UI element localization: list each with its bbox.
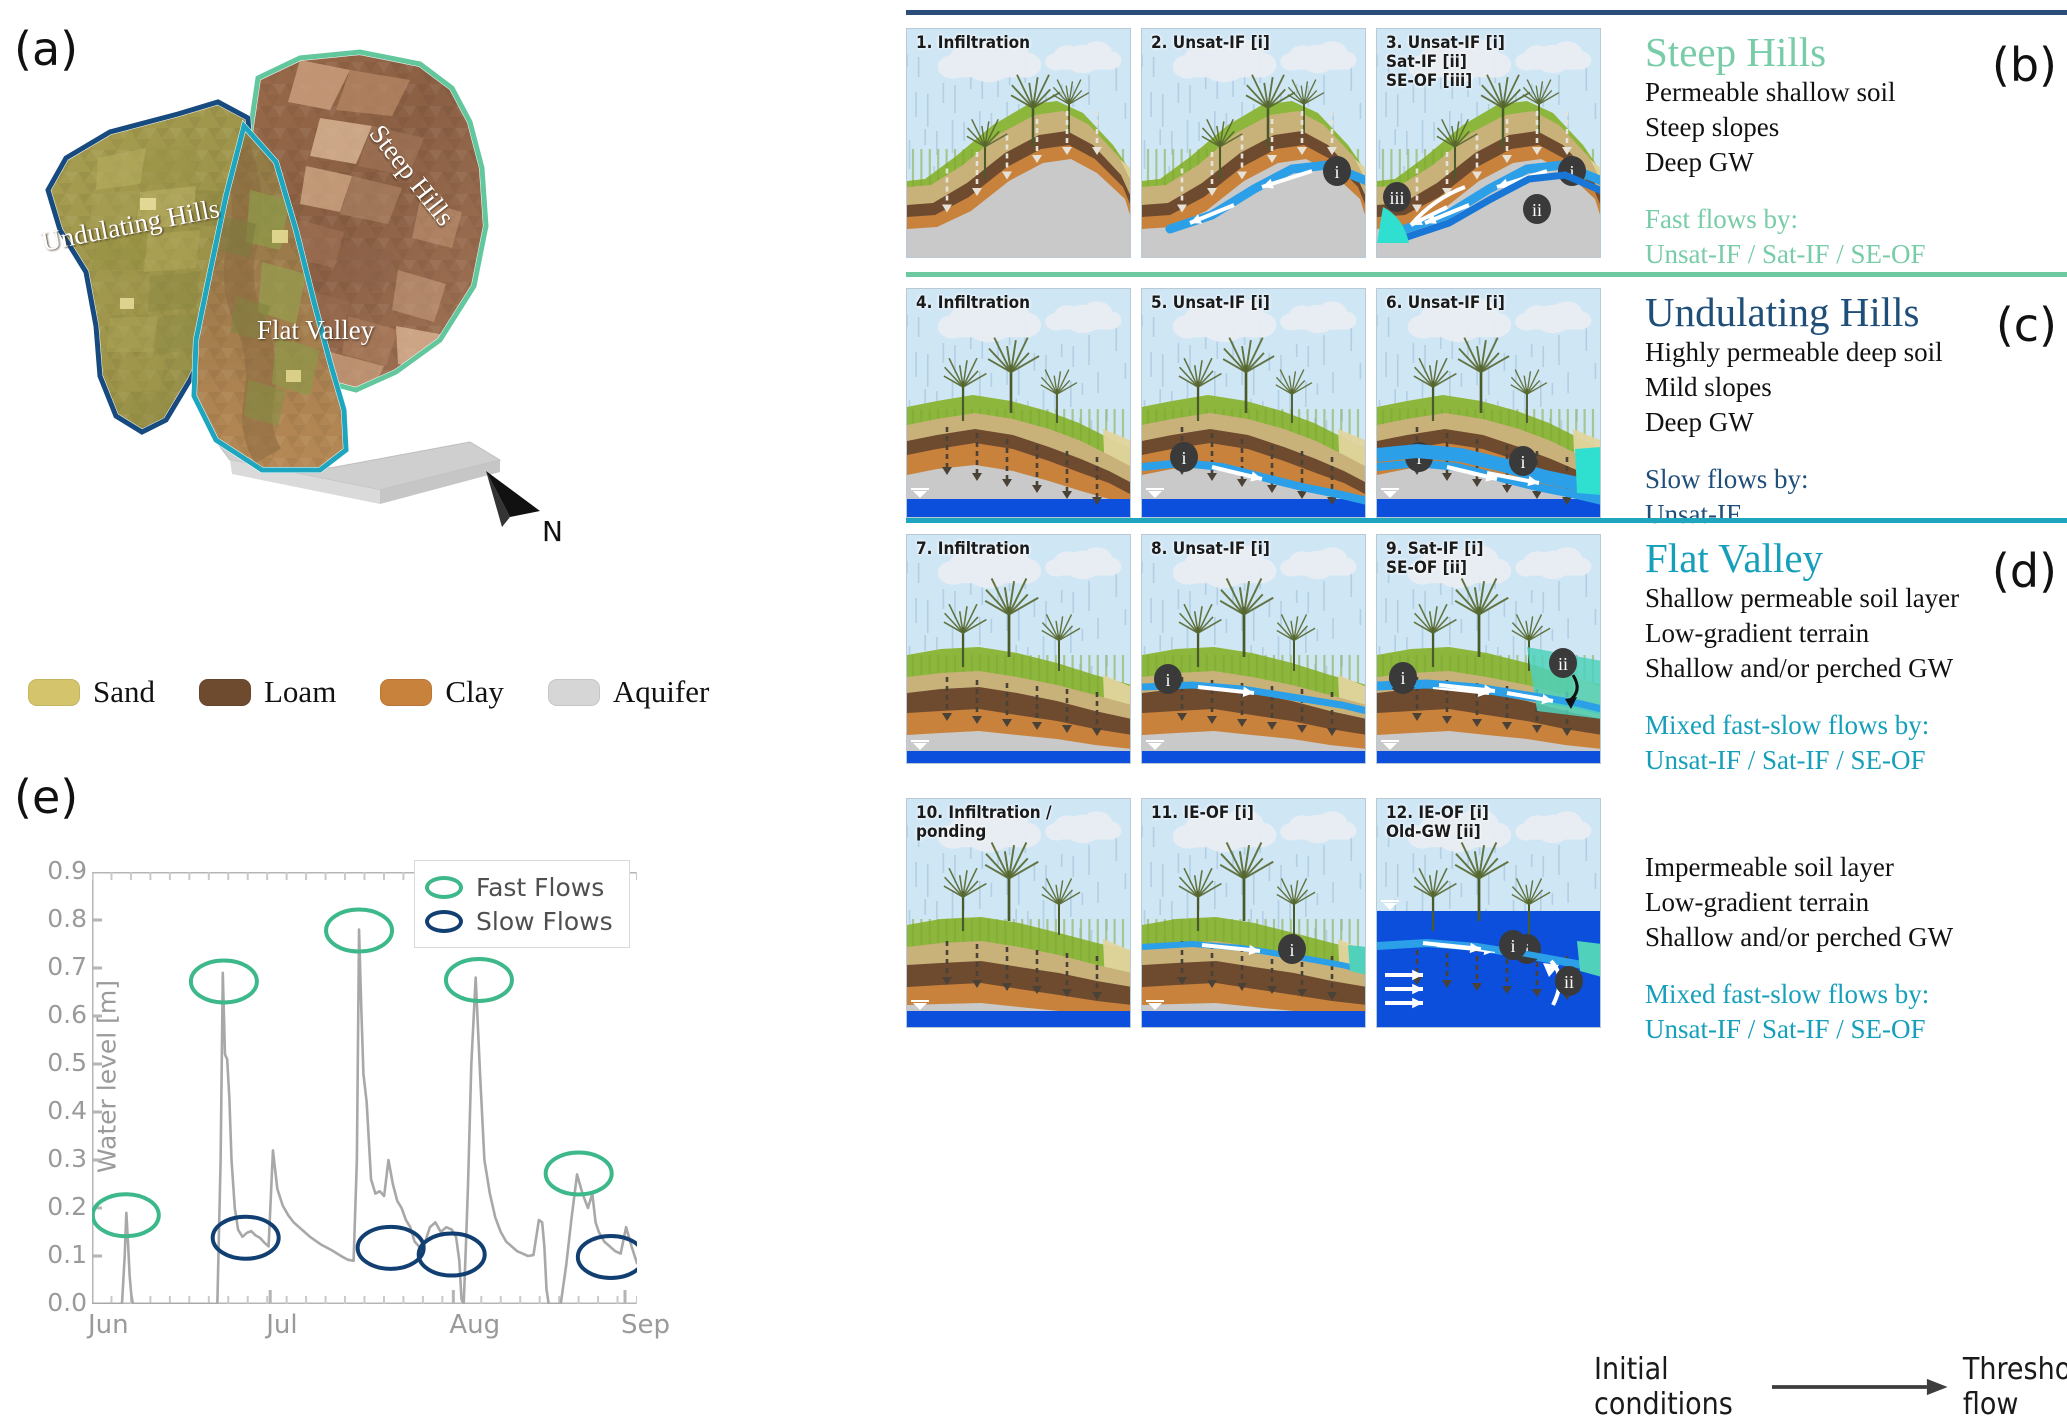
chart-y-tick-label: 0.5 bbox=[17, 1048, 87, 1077]
chart-y-tick-label: 0.7 bbox=[17, 952, 87, 981]
slow-flow-annotation bbox=[578, 1236, 637, 1278]
process-cell[interactable]: 10. Infiltration / ponding bbox=[906, 798, 1131, 1028]
process-cell-title: 12. IE-OF [i] Old-GW [ii] bbox=[1386, 804, 1489, 842]
process-cell-title: 4. Infiltration bbox=[916, 294, 1030, 313]
chart-y-tick-label: 0.2 bbox=[17, 1192, 87, 1221]
flow-mechanisms: Unsat-IF / Sat-IF / SE-OF bbox=[1645, 743, 2065, 778]
svg-text:i: i bbox=[1334, 162, 1339, 182]
flow-mechanisms: Unsat-IF / Sat-IF / SE-OF bbox=[1645, 237, 2065, 272]
caption-initial-conditions: Initial conditions bbox=[1594, 1352, 1758, 1422]
process-cell-group: 4. Infiltrationi5. Unsat-IF [i]ii6. Unsa… bbox=[906, 288, 1601, 518]
region-attribute: Low-gradient terrain bbox=[1645, 616, 2065, 651]
svg-text:i: i bbox=[1400, 668, 1405, 688]
legend-item-clay: Clay bbox=[380, 674, 504, 710]
slow-flow-annotation bbox=[358, 1227, 424, 1269]
legend-swatch-aquifer bbox=[548, 679, 600, 706]
panel-e-hydrograph: (e) Water level [m] Fast Flows Slow Flow… bbox=[0, 760, 690, 1403]
process-cell-title: 10. Infiltration / ponding bbox=[916, 804, 1052, 842]
process-illustration bbox=[907, 29, 1131, 258]
process-cell-title: 6. Unsat-IF [i] bbox=[1386, 294, 1505, 313]
process-cell-group: 7. Infiltrationi8. Unsat-IF [i]iiii9. Sa… bbox=[906, 534, 1601, 764]
chart-y-tick-label: 0.8 bbox=[17, 904, 87, 933]
chart-legend-label-slow: Slow Flows bbox=[476, 907, 613, 936]
svg-text:i: i bbox=[1165, 670, 1170, 690]
legend-item-sand: Sand bbox=[28, 674, 155, 710]
terrain-3d-map: Undulating Hills Steep Hills Flat Valley… bbox=[0, 40, 690, 510]
process-panels: 1. Infiltrationi2. Unsat-IF [i]iiiiii3. … bbox=[690, 0, 2067, 1403]
svg-text:i: i bbox=[1510, 936, 1515, 956]
svg-text:ii: ii bbox=[1532, 200, 1542, 220]
process-cell-title: 8. Unsat-IF [i] bbox=[1151, 540, 1270, 559]
row-divider bbox=[906, 10, 2067, 15]
chart-y-tick-label: 0.3 bbox=[17, 1144, 87, 1173]
fast-flow-annotation bbox=[546, 1152, 612, 1194]
bottom-caption: Initial conditions Threshold of flow bbox=[1594, 1352, 2067, 1422]
process-cell-title: 2. Unsat-IF [i] bbox=[1151, 34, 1270, 53]
panel-letter: (c) bbox=[1996, 298, 2057, 352]
row-divider bbox=[906, 272, 2067, 277]
chart-plot-area: Water level [m] Fast Flows Slow Flows 0.… bbox=[92, 872, 637, 1304]
process-cell-title: 11. IE-OF [i] bbox=[1151, 804, 1254, 823]
chart-legend-item-fast: Fast Flows bbox=[425, 870, 613, 904]
process-cell[interactable]: i11. IE-OF [i] bbox=[1141, 798, 1366, 1028]
legend-item-aquifer: Aquifer bbox=[548, 674, 709, 710]
panel-letter: (d) bbox=[1992, 544, 2057, 598]
process-cell-group: 1. Infiltrationi2. Unsat-IF [i]iiiiii3. … bbox=[906, 28, 1601, 258]
soil-legend: Sand Loam Clay Aquifer bbox=[28, 674, 753, 710]
process-cell[interactable]: 7. Infiltration bbox=[906, 534, 1131, 764]
compass-north-icon: N bbox=[480, 465, 590, 560]
fast-flow-ellipse-icon bbox=[425, 876, 463, 899]
svg-text:i: i bbox=[1520, 452, 1525, 472]
svg-text:N: N bbox=[542, 515, 563, 548]
svg-text:i: i bbox=[1181, 448, 1186, 468]
process-cell[interactable]: ii6. Unsat-IF [i] bbox=[1376, 288, 1601, 518]
process-cell[interactable]: i8. Unsat-IF [i] bbox=[1141, 534, 1366, 764]
region-description: (b)Steep HillsPermeable shallow soilStee… bbox=[1645, 32, 2065, 272]
legend-label-clay: Clay bbox=[445, 674, 504, 710]
process-cell-title: 3. Unsat-IF [i] Sat-IF [ii] SE-OF [iii] bbox=[1386, 34, 1505, 91]
process-cell[interactable]: iiii9. Sat-IF [i] SE-OF [ii] bbox=[1376, 534, 1601, 764]
region-attribute: Impermeable soil layer bbox=[1645, 850, 2065, 885]
legend-label-sand: Sand bbox=[93, 674, 155, 710]
chart-x-tick-label: Aug bbox=[449, 1310, 500, 1340]
fast-flow-annotation bbox=[446, 959, 512, 1001]
chart-legend: Fast Flows Slow Flows bbox=[414, 860, 630, 948]
chart-x-tick-label: Sep bbox=[621, 1310, 670, 1340]
region-attribute: Deep GW bbox=[1645, 405, 2065, 440]
region-attribute: Steep slopes bbox=[1645, 110, 2065, 145]
process-illustration: i bbox=[1142, 799, 1366, 1028]
process-cell[interactable]: 1. Infiltration bbox=[906, 28, 1131, 258]
panel-a-catchment-map: (a) bbox=[0, 0, 690, 755]
region-attribute: Deep GW bbox=[1645, 145, 2065, 180]
arrow-right-icon bbox=[1772, 1373, 1949, 1401]
svg-text:ii: ii bbox=[1564, 972, 1574, 992]
region-attribute: Shallow and/or perched GW bbox=[1645, 651, 2065, 686]
region-description: (d)Flat ValleyShallow permeable soil lay… bbox=[1645, 538, 2065, 778]
legend-label-loam: Loam bbox=[264, 674, 336, 710]
flow-header: Mixed fast-slow flows by: bbox=[1645, 708, 2065, 743]
svg-text:ii: ii bbox=[1558, 654, 1568, 674]
slow-flow-ellipse-icon bbox=[425, 910, 463, 933]
flow-mechanisms: Unsat-IF / Sat-IF / SE-OF bbox=[1645, 1012, 2065, 1047]
svg-text:i: i bbox=[1289, 940, 1294, 960]
svg-text:iii: iii bbox=[1389, 188, 1404, 208]
chart-legend-label-fast: Fast Flows bbox=[476, 873, 604, 902]
chart-x-tick-label: Jul bbox=[266, 1310, 297, 1340]
panel-letter: (b) bbox=[1992, 38, 2057, 92]
process-cell[interactable]: 4. Infiltration bbox=[906, 288, 1131, 518]
chart-y-tick-label: 0.4 bbox=[17, 1096, 87, 1125]
process-cell-title: 7. Infiltration bbox=[916, 540, 1030, 559]
chart-legend-item-slow: Slow Flows bbox=[425, 904, 613, 938]
process-illustration: ii bbox=[1377, 289, 1601, 518]
process-cell-title: 5. Unsat-IF [i] bbox=[1151, 294, 1270, 313]
process-cell-title: 1. Infiltration bbox=[916, 34, 1030, 53]
process-cell[interactable]: iiii12. IE-OF [i] Old-GW [ii] bbox=[1376, 798, 1601, 1028]
chart-y-tick-label: 0.0 bbox=[17, 1288, 87, 1317]
process-cell[interactable]: i2. Unsat-IF [i] bbox=[1141, 28, 1366, 258]
process-cell[interactable]: iiiiii3. Unsat-IF [i] Sat-IF [ii] SE-OF … bbox=[1376, 28, 1601, 258]
spacer bbox=[1645, 802, 2065, 850]
panel-e-letter: (e) bbox=[14, 770, 78, 824]
chart-y-tick-label: 0.9 bbox=[17, 856, 87, 885]
terrain-svg bbox=[0, 40, 690, 510]
slow-flow-annotation bbox=[419, 1234, 485, 1276]
legend-swatch-clay bbox=[380, 679, 432, 706]
chart-y-tick-label: 0.1 bbox=[17, 1240, 87, 1269]
legend-swatch-sand bbox=[28, 679, 80, 706]
region-attribute: Low-gradient terrain bbox=[1645, 885, 2065, 920]
region-description: Impermeable soil layerLow-gradient terra… bbox=[1645, 802, 2065, 1047]
chart-y-tick-label: 0.6 bbox=[17, 1000, 87, 1029]
process-illustration bbox=[907, 535, 1131, 764]
region-description: (c)Undulating HillsHighly permeable deep… bbox=[1645, 292, 2065, 532]
flow-header: Fast flows by: bbox=[1645, 202, 2065, 237]
row-divider bbox=[906, 518, 2067, 523]
process-cell[interactable]: i5. Unsat-IF [i] bbox=[1141, 288, 1366, 518]
caption-threshold-of-flow: Threshold of flow bbox=[1963, 1352, 2067, 1422]
flow-header: Mixed fast-slow flows by: bbox=[1645, 977, 2065, 1012]
legend-swatch-loam bbox=[199, 679, 251, 706]
process-cell-group: 10. Infiltration / pondingi11. IE-OF [i]… bbox=[906, 798, 1601, 1028]
flow-header: Slow flows by: bbox=[1645, 462, 2065, 497]
region-attribute: Shallow and/or perched GW bbox=[1645, 920, 2065, 955]
process-illustration bbox=[907, 289, 1131, 518]
process-illustration: i bbox=[1142, 29, 1366, 258]
process-illustration: i bbox=[1142, 289, 1366, 518]
process-illustration: i bbox=[1142, 535, 1366, 764]
legend-item-loam: Loam bbox=[199, 674, 336, 710]
flow-mechanisms: Unsat-IF bbox=[1645, 497, 2065, 532]
process-cell-title: 9. Sat-IF [i] SE-OF [ii] bbox=[1386, 540, 1483, 578]
region-attribute: Mild slopes bbox=[1645, 370, 2065, 405]
chart-x-tick-label: Jun bbox=[88, 1310, 129, 1340]
